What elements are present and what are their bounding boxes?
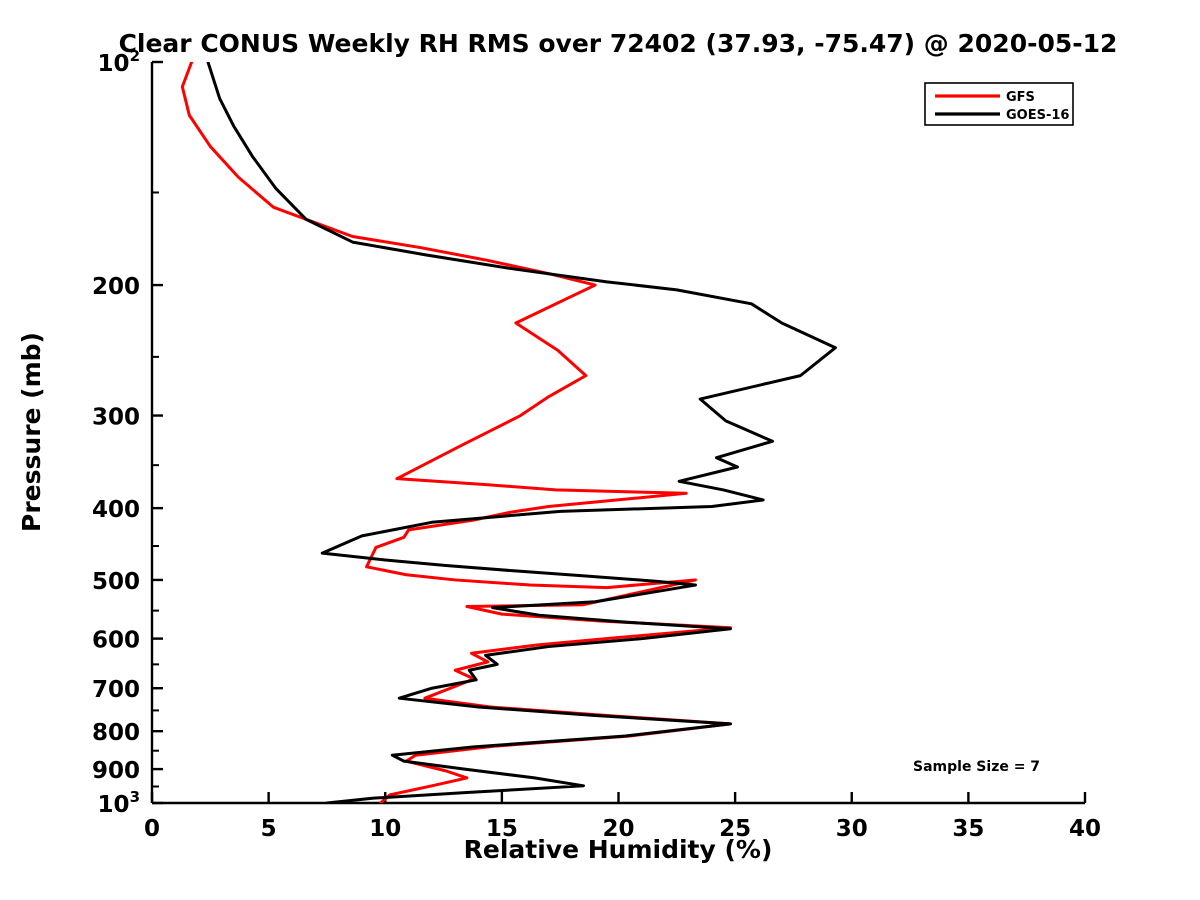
- x-tick-label: 40: [1069, 816, 1101, 842]
- x-tick-label: 30: [836, 816, 868, 842]
- x-axis-label: Relative Humidity (%): [464, 835, 773, 864]
- chart-figure: Clear CONUS Weekly RH RMS over 72402 (37…: [0, 0, 1200, 900]
- y-tick-label: 200: [92, 274, 140, 300]
- x-tick-label: 35: [952, 816, 984, 842]
- x-tick-label: 5: [261, 816, 277, 842]
- y-tick-label: 400: [92, 497, 140, 523]
- y-tick-label: 500: [92, 569, 140, 595]
- chart-legend[interactable]: GFS GOES-16: [925, 83, 1073, 125]
- y-tick-label: 600: [92, 628, 140, 654]
- x-tick-label: 10: [369, 816, 401, 842]
- y-tick-label: 700: [92, 677, 140, 703]
- y-axis-label: Pressure (mb): [17, 332, 46, 532]
- y-tick-label: 900: [92, 758, 140, 784]
- y-tick-label: 800: [92, 720, 140, 746]
- legend-label-goes16: GOES-16: [1006, 108, 1069, 123]
- sample-size-annotation: Sample Size = 7: [913, 759, 1040, 775]
- legend-label-gfs: GFS: [1006, 90, 1035, 105]
- x-tick-label: 0: [144, 816, 160, 842]
- chart-canvas: Clear CONUS Weekly RH RMS over 72402 (37…: [0, 0, 1200, 900]
- chart-title: Clear CONUS Weekly RH RMS over 72402 (37…: [119, 29, 1118, 58]
- y-tick-label: 300: [92, 405, 140, 431]
